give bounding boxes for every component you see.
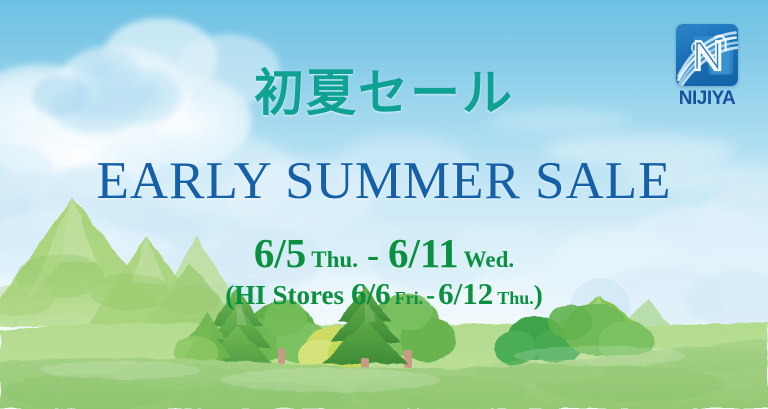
end-day: Wed. — [464, 247, 514, 272]
hi-end-date: 6/12 — [438, 276, 493, 311]
hi-stores-label: (HI Stores — [225, 280, 344, 310]
hi-end-day: Thu. — [497, 288, 534, 308]
nijiya-n-rainbow-mark — [676, 24, 738, 86]
nijiya-logo[interactable]: NIJIYA — [668, 24, 746, 108]
hi-date-separator: - — [426, 280, 435, 310]
hi-close-paren: ) — [534, 280, 543, 310]
sale-dates-hawaii: (HI Stores6/6Fri.-6/12Thu.) — [0, 278, 768, 309]
early-summer-sale-banner: 初夏セール EARLY SUMMER SALE 6/5Thu.-6/11Wed.… — [0, 0, 768, 409]
date-separator: - — [365, 235, 381, 275]
hi-start-date: 6/6 — [351, 276, 391, 311]
nijiya-wordmark: NIJIYA — [668, 89, 746, 108]
start-day: Thu. — [311, 247, 358, 272]
headline-japanese: 初夏セール — [0, 68, 768, 118]
start-date: 6/5 — [254, 230, 306, 276]
headline-english: EARLY SUMMER SALE — [0, 155, 768, 208]
hi-start-day: Fri. — [395, 288, 424, 308]
end-date: 6/11 — [388, 230, 459, 276]
sale-dates-primary: 6/5Thu.-6/11Wed. — [0, 233, 768, 274]
